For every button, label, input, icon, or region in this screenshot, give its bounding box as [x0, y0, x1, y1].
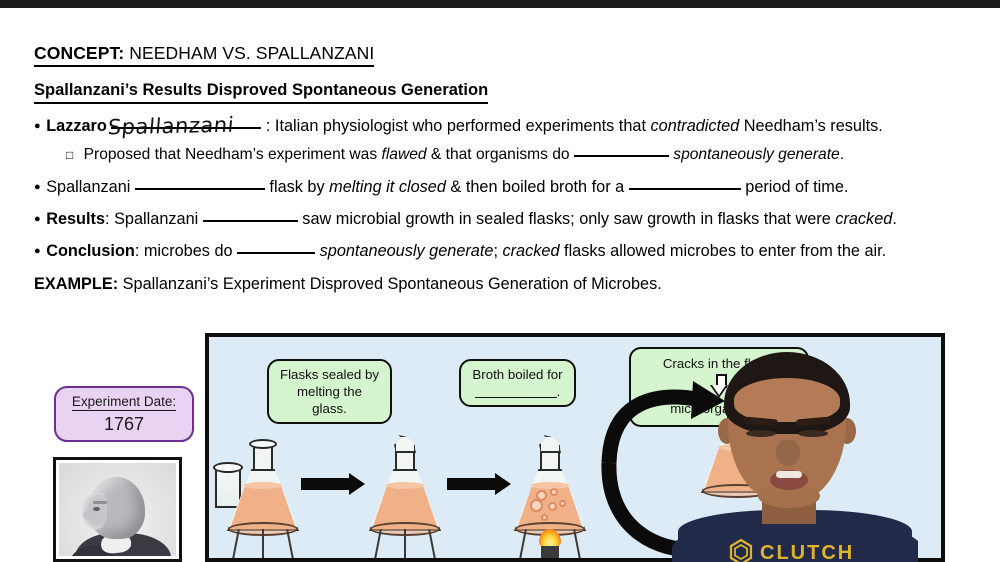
presenter-forehead: [734, 378, 840, 422]
sub1-text-b: & that organisms do: [427, 146, 574, 163]
arrow-step-1: [301, 473, 365, 495]
flask2-stand-right: [428, 529, 436, 559]
flask3-sealed-tip: [539, 435, 561, 453]
sub1-text-a: Proposed that Needham’s experiment was: [84, 146, 382, 163]
concept-label: CONCEPT:: [34, 43, 124, 63]
fill-blank-3[interactable]: [135, 188, 265, 190]
flask1-broth-surface: [244, 482, 282, 489]
fill-blank-5[interactable]: [203, 220, 298, 222]
presenter-teeth: [776, 471, 802, 478]
bullet-spallanzani-flask: Spallanzani flask by melting it closed &…: [34, 177, 970, 197]
clutch-hexagon-logo-icon: [728, 538, 754, 562]
flask2-stand-left: [374, 529, 382, 559]
sub1-italic-b: spontaneously generate: [673, 146, 839, 163]
bubble: [541, 514, 548, 521]
flask2-broth-surface: [386, 482, 424, 489]
bubble: [550, 488, 558, 496]
arrow-step-2: [447, 473, 511, 495]
presenter-eye-right: [798, 430, 828, 437]
bullet4-italic-b: cracked: [503, 242, 560, 260]
presenter-nose: [776, 440, 800, 466]
portrait-nose: [83, 510, 95, 520]
concept-heading: CONCEPT: NEEDHAM VS. SPALLANZANI: [34, 42, 374, 67]
callout-sealed-flasks: Flasks sealed by melting the glass.: [267, 359, 392, 424]
bullet2-text-b: & then boiled broth for a: [446, 178, 629, 196]
bullet2-text-a: flask by: [265, 178, 329, 196]
handwritten-answer-spallanzani: Spallanzani: [107, 113, 235, 140]
bullet1-text-b: Needham’s results.: [739, 117, 883, 135]
bunsen-burner: [537, 529, 563, 559]
example-label: EXAMPLE:: [34, 275, 118, 293]
flask1-stand-right: [286, 529, 294, 559]
bullet1-text-a: : Italian physiologist who performed exp…: [266, 117, 651, 135]
bullet3-text-b: saw microbial growth in sealed flasks; o…: [298, 210, 836, 228]
flask3-stand-left: [519, 529, 527, 559]
bullet-results: Results: Spallanzani saw microbial growt…: [34, 209, 970, 229]
lecture-slide: CONCEPT: NEEDHAM VS. SPALLANZANI Spallan…: [0, 0, 1000, 562]
sub1-text-c: .: [840, 146, 844, 163]
flask2-stand-mid: [404, 529, 406, 559]
experiment-date-label: Experiment Date:: [72, 394, 176, 411]
bullet4-text-c: flasks allowed microbes to enter from th…: [560, 242, 887, 260]
arrow2-head: [495, 473, 511, 495]
bullet3-text-c: .: [892, 210, 897, 228]
arrow2-shaft: [447, 478, 495, 490]
bullet-term-lazzaro: Lazzaro: [46, 117, 107, 135]
top-bar: [0, 0, 1000, 8]
bullet2-italic-a: melting it closed: [329, 178, 446, 196]
callout1-line1: Flasks sealed by: [280, 367, 379, 382]
flask3-stand-right: [573, 529, 581, 559]
example-row: EXAMPLE: Spallanzani’s Experiment Dispro…: [34, 274, 970, 294]
callout-broth-boiled: Broth boiled for .: [459, 359, 576, 407]
flask3-broth-surface: [531, 482, 569, 489]
bullet4-text-a: : microbes do: [135, 242, 237, 260]
webcam-overlay: CLUTCH: [672, 352, 918, 562]
callout1-line2: melting the glass.: [297, 384, 362, 416]
portrait-eye: [93, 507, 100, 511]
bullet3-italic-a: cracked: [835, 210, 892, 228]
arrow1-shaft: [301, 478, 349, 490]
flask2-sealed-tip: [394, 435, 416, 453]
fill-blank-4[interactable]: [629, 188, 741, 190]
bullet3-term: Results: [46, 210, 105, 228]
bullet1-italic-a: contradicted: [651, 117, 740, 135]
flask1-stand-left: [232, 529, 240, 559]
bullet4-term: Conclusion: [46, 242, 135, 260]
sub-bullet-proposed: Proposed that Needham’s experiment was f…: [34, 145, 970, 165]
notes-body: CONCEPT: NEEDHAM VS. SPALLANZANI Spallan…: [34, 42, 970, 294]
spallanzani-portrait: [53, 457, 182, 562]
experiment-date-card: Experiment Date: 1767: [54, 386, 194, 442]
burner-base: [541, 546, 559, 559]
callout2-fill-blank[interactable]: [475, 385, 557, 398]
portrait-brow: [93, 501, 107, 504]
bullet4-text-b: ;: [493, 242, 502, 260]
bullet-conclusion: Conclusion: microbes do spontaneously ge…: [34, 241, 970, 261]
arrow1-head: [349, 473, 365, 495]
presenter-eye-left: [746, 430, 776, 437]
bullet2-text-c: period of time.: [741, 178, 849, 196]
bullet4-italic-a: spontaneously generate: [320, 242, 494, 260]
portrait-image: [59, 463, 176, 556]
section-subheading: Spallanzani’s Results Disproved Spontane…: [34, 80, 488, 104]
sub1-italic-a: flawed: [381, 146, 426, 163]
flask-sealed: [369, 437, 441, 545]
fill-blank-6[interactable]: [237, 252, 315, 254]
bubble: [548, 502, 557, 511]
flask1-rim: [249, 439, 277, 449]
bubble: [530, 499, 543, 512]
flask-open-with-broth: [227, 437, 299, 545]
callout2-line1: Broth boiled for: [472, 367, 562, 382]
example-text: Spallanzani’s Experiment Disproved Spont…: [118, 275, 662, 293]
clutch-brand-text: CLUTCH: [760, 542, 854, 562]
bullet2-term: Spallanzani: [46, 178, 130, 196]
experiment-date-year: 1767: [104, 414, 144, 434]
callout2-line2: .: [557, 384, 561, 399]
bubble: [559, 500, 566, 507]
flask1-stand-mid: [262, 529, 264, 559]
fill-blank-2[interactable]: [574, 155, 669, 157]
concept-title: NEEDHAM VS. SPALLANZANI: [129, 43, 374, 63]
bullet3-text-a: : Spallanzani: [105, 210, 203, 228]
